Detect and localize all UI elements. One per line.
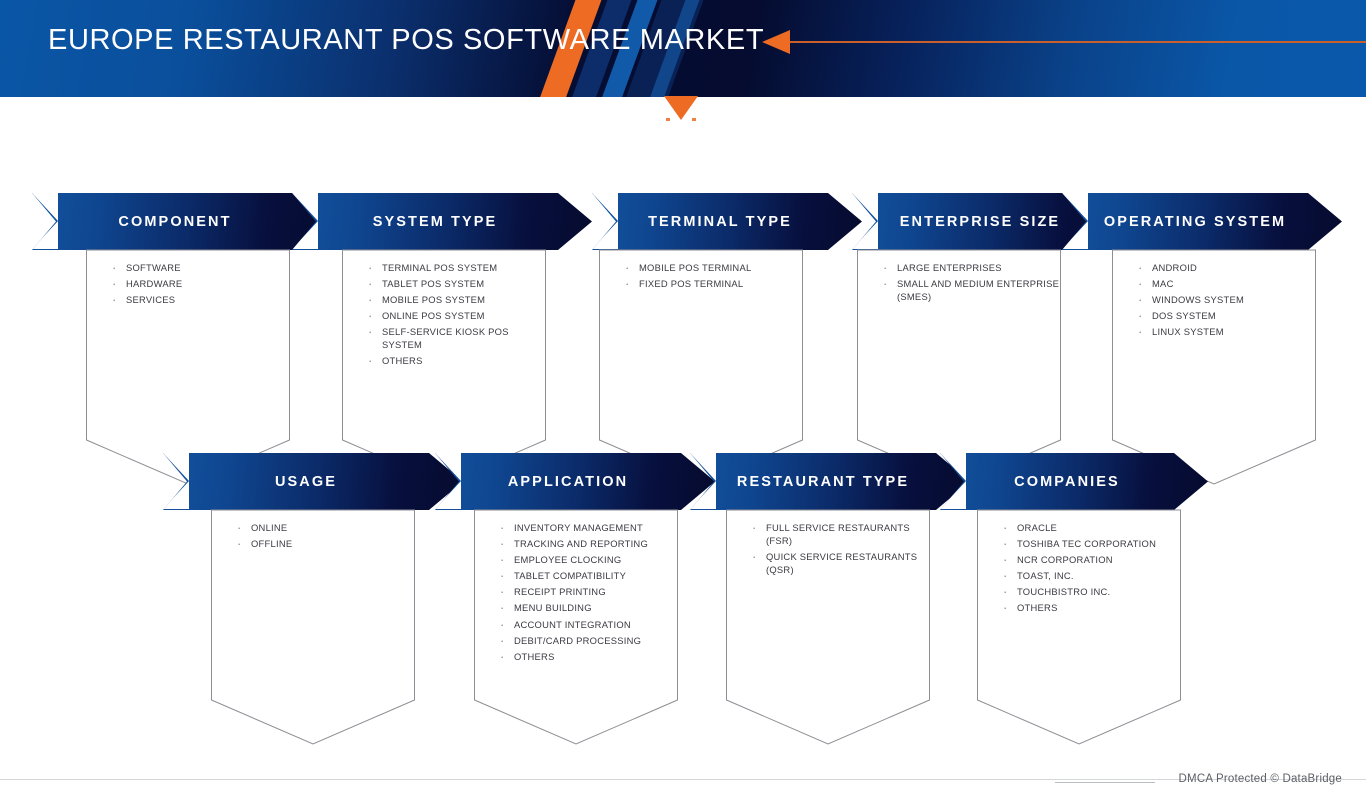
list-item: ·WINDOWS SYSTEM <box>1112 293 1316 306</box>
orange-dot-right <box>692 118 696 121</box>
list-item: ·TERMINAL POS SYSTEM <box>342 261 546 274</box>
segment-card-body: ·ONLINE·OFFLINE <box>211 510 415 744</box>
bullet-dot-icon: · <box>625 261 639 274</box>
list-item-label: WINDOWS SYSTEM <box>1152 293 1244 306</box>
list-item-label: ONLINE <box>251 521 287 534</box>
list-item-label: OTHERS <box>382 354 423 367</box>
list-item: ·SOFTWARE <box>86 261 290 274</box>
bullet-dot-icon: · <box>237 521 251 534</box>
bullet-dot-icon: · <box>368 261 382 274</box>
segment-item-list: ·FULL SERVICE RESTAURANTS (FSR)·QUICK SE… <box>726 521 930 579</box>
page-header: EUROPE RESTAURANT POS SOFTWARE MARKET <box>0 0 1366 97</box>
segment-item-list: ·ONLINE·OFFLINE <box>211 521 415 553</box>
bullet-dot-icon: · <box>752 521 766 534</box>
list-item-label: OTHERS <box>1017 601 1058 614</box>
segment-card-title: TERMINAL TYPE <box>648 214 792 230</box>
list-item: ·QUICK SERVICE RESTAURANTS (QSR) <box>726 550 930 576</box>
list-item-label: MOBILE POS TERMINAL <box>639 261 751 274</box>
list-item: ·SERVICES <box>86 293 290 306</box>
list-item-label: DEBIT/CARD PROCESSING <box>514 634 641 647</box>
list-item-label: HARDWARE <box>126 277 182 290</box>
bullet-dot-icon: · <box>368 325 382 338</box>
list-item-label: LARGE ENTERPRISES <box>897 261 1002 274</box>
list-item-label: NCR CORPORATION <box>1017 553 1113 566</box>
list-item-label: SERVICES <box>126 293 175 306</box>
list-item-label: TOAST, INC. <box>1017 569 1074 582</box>
segment-item-list: ·ORACLE·TOSHIBA TEC CORPORATION·NCR CORP… <box>977 521 1181 618</box>
list-item-label: TOSHIBA TEC CORPORATION <box>1017 537 1156 550</box>
list-item-label: SMALL AND MEDIUM ENTERPRISE (SMES) <box>897 277 1059 303</box>
list-item-label: EMPLOYEE CLOCKING <box>514 553 621 566</box>
segment-card-body: ·TERMINAL POS SYSTEM·TABLET POS SYSTEM·M… <box>342 250 546 484</box>
list-item: ·SMALL AND MEDIUM ENTERPRISE (SMES) <box>857 277 1061 303</box>
segment-card-body: ·SOFTWARE·HARDWARE·SERVICES <box>86 250 290 484</box>
bullet-dot-icon: · <box>1138 293 1152 306</box>
list-item-label: LINUX SYSTEM <box>1152 325 1224 338</box>
bullet-dot-icon: · <box>625 277 639 290</box>
orange-arrow-tip-icon <box>664 96 698 120</box>
list-item: ·ORACLE <box>977 521 1181 534</box>
bullet-dot-icon: · <box>1138 261 1152 274</box>
bullet-dot-icon: · <box>237 537 251 550</box>
bullet-dot-icon: · <box>1138 309 1152 322</box>
bullet-dot-icon: · <box>1138 277 1152 290</box>
bullet-dot-icon: · <box>883 277 897 290</box>
segment-card-body: ·ORACLE·TOSHIBA TEC CORPORATION·NCR CORP… <box>977 510 1181 744</box>
bullet-dot-icon: · <box>500 601 514 614</box>
list-item-label: ANDROID <box>1152 261 1197 274</box>
list-item: ·DEBIT/CARD PROCESSING <box>474 634 678 647</box>
segment-card-title: COMPONENT <box>118 214 231 230</box>
segment-card-banner[interactable]: TERMINAL TYPE <box>592 193 862 250</box>
page-title: EUROPE RESTAURANT POS SOFTWARE MARKET <box>48 24 764 57</box>
list-item: ·TOUCHBISTRO INC. <box>977 585 1181 598</box>
list-item-label: FIXED POS TERMINAL <box>639 277 743 290</box>
list-item: ·OTHERS <box>977 601 1181 614</box>
segment-card-banner[interactable]: RESTAURANT TYPE <box>690 453 970 510</box>
list-item: ·ACCOUNT INTEGRATION <box>474 618 678 631</box>
list-item-label: SELF-SERVICE KIOSK POS SYSTEM <box>382 325 546 351</box>
segment-card-title: OPERATING SYSTEM <box>1104 214 1286 230</box>
segment-item-list: ·LARGE ENTERPRISES·SMALL AND MEDIUM ENTE… <box>857 261 1061 306</box>
footer-divider <box>0 779 1366 780</box>
list-item: ·OTHERS <box>342 354 546 367</box>
list-item: ·TABLET POS SYSTEM <box>342 277 546 290</box>
bullet-dot-icon: · <box>1003 537 1017 550</box>
bullet-dot-icon: · <box>1003 521 1017 534</box>
segment-item-list: ·TERMINAL POS SYSTEM·TABLET POS SYSTEM·M… <box>342 261 546 371</box>
list-item: ·ONLINE POS SYSTEM <box>342 309 546 322</box>
bullet-dot-icon: · <box>368 309 382 322</box>
list-item-label: RECEIPT PRINTING <box>514 585 606 598</box>
list-item: ·DOS SYSTEM <box>1112 309 1316 322</box>
list-item-label: TERMINAL POS SYSTEM <box>382 261 497 274</box>
list-item: ·LARGE ENTERPRISES <box>857 261 1061 274</box>
segment-item-list: ·INVENTORY MANAGEMENT·TRACKING AND REPOR… <box>474 521 678 666</box>
bullet-dot-icon: · <box>112 293 126 306</box>
segment-card-body: ·LARGE ENTERPRISES·SMALL AND MEDIUM ENTE… <box>857 250 1061 484</box>
list-item-label: OFFLINE <box>251 537 292 550</box>
segment-card-banner[interactable]: APPLICATION <box>435 453 715 510</box>
list-item-label: SOFTWARE <box>126 261 181 274</box>
bullet-dot-icon: · <box>1138 325 1152 338</box>
list-item: ·SELF-SERVICE KIOSK POS SYSTEM <box>342 325 546 351</box>
segment-card-body: ·FULL SERVICE RESTAURANTS (FSR)·QUICK SE… <box>726 510 930 744</box>
bullet-dot-icon: · <box>883 261 897 274</box>
list-item-label: ONLINE POS SYSTEM <box>382 309 485 322</box>
list-item-label: MAC <box>1152 277 1174 290</box>
list-item-label: ORACLE <box>1017 521 1057 534</box>
list-item-label: TOUCHBISTRO INC. <box>1017 585 1110 598</box>
list-item: ·FULL SERVICE RESTAURANTS (FSR) <box>726 521 930 547</box>
bullet-dot-icon: · <box>1003 553 1017 566</box>
list-item: ·TRACKING AND REPORTING <box>474 537 678 550</box>
list-item-label: MOBILE POS SYSTEM <box>382 293 485 306</box>
segment-card-banner[interactable]: SYSTEM TYPE <box>292 193 592 250</box>
bullet-dot-icon: · <box>752 550 766 563</box>
chevron-notch-icon <box>32 193 58 249</box>
bullet-dot-icon: · <box>500 585 514 598</box>
bullet-dot-icon: · <box>500 553 514 566</box>
list-item: ·OTHERS <box>474 650 678 663</box>
header-accent-line <box>790 41 1366 43</box>
list-item: ·MENU BUILDING <box>474 601 678 614</box>
list-item-label: TABLET POS SYSTEM <box>382 277 484 290</box>
list-item: ·ONLINE <box>211 521 415 534</box>
chevron-notch-icon <box>592 193 618 249</box>
bullet-dot-icon: · <box>500 521 514 534</box>
orange-dot-left <box>666 118 670 121</box>
segment-card-banner[interactable]: COMPONENT <box>32 193 332 250</box>
segment-item-list: ·SOFTWARE·HARDWARE·SERVICES <box>86 261 290 309</box>
list-item: ·LINUX SYSTEM <box>1112 325 1316 338</box>
bullet-dot-icon: · <box>500 537 514 550</box>
segment-card-title: APPLICATION <box>508 474 628 490</box>
segment-card-banner[interactable]: COMPANIES <box>940 453 1208 510</box>
segment-card-title: SYSTEM TYPE <box>373 214 498 230</box>
list-item: ·MOBILE POS SYSTEM <box>342 293 546 306</box>
list-item: ·EMPLOYEE CLOCKING <box>474 553 678 566</box>
footer-accent-line <box>1055 782 1155 783</box>
segment-item-list: ·ANDROID·MAC·WINDOWS SYSTEM·DOS SYSTEM·L… <box>1112 261 1316 341</box>
bullet-dot-icon: · <box>500 618 514 631</box>
segment-item-list: ·MOBILE POS TERMINAL·FIXED POS TERMINAL <box>599 261 803 293</box>
left-arrow-icon <box>762 30 790 54</box>
list-item: ·HARDWARE <box>86 277 290 290</box>
bullet-dot-icon: · <box>112 261 126 274</box>
list-item-label: FULL SERVICE RESTAURANTS (FSR) <box>766 521 930 547</box>
bullet-dot-icon: · <box>1003 601 1017 614</box>
list-item: ·TABLET COMPATIBILITY <box>474 569 678 582</box>
list-item: ·TOAST, INC. <box>977 569 1181 582</box>
segment-card-body: ·INVENTORY MANAGEMENT·TRACKING AND REPOR… <box>474 510 678 744</box>
list-item-label: OTHERS <box>514 650 555 663</box>
bullet-dot-icon: · <box>500 634 514 647</box>
segment-card-title: RESTAURANT TYPE <box>737 474 909 490</box>
list-item-label: INVENTORY MANAGEMENT <box>514 521 643 534</box>
segment-card-body: ·ANDROID·MAC·WINDOWS SYSTEM·DOS SYSTEM·L… <box>1112 250 1316 484</box>
segment-card-body: ·MOBILE POS TERMINAL·FIXED POS TERMINAL <box>599 250 803 484</box>
bullet-dot-icon: · <box>368 354 382 367</box>
segment-card-title: COMPANIES <box>1014 474 1120 490</box>
bullet-dot-icon: · <box>112 277 126 290</box>
bullet-dot-icon: · <box>1003 585 1017 598</box>
bullet-dot-icon: · <box>368 293 382 306</box>
list-item-label: DOS SYSTEM <box>1152 309 1216 322</box>
list-item: ·MOBILE POS TERMINAL <box>599 261 803 274</box>
bullet-dot-icon: · <box>368 277 382 290</box>
list-item-label: ACCOUNT INTEGRATION <box>514 618 631 631</box>
segment-card-title: USAGE <box>275 474 337 490</box>
list-item: ·ANDROID <box>1112 261 1316 274</box>
bullet-dot-icon: · <box>1003 569 1017 582</box>
list-item: ·TOSHIBA TEC CORPORATION <box>977 537 1181 550</box>
list-item: ·RECEIPT PRINTING <box>474 585 678 598</box>
list-item: ·FIXED POS TERMINAL <box>599 277 803 290</box>
segment-card-banner[interactable]: OPERATING SYSTEM <box>1062 193 1342 250</box>
list-item-label: QUICK SERVICE RESTAURANTS (QSR) <box>766 550 930 576</box>
segment-card-banner[interactable]: USAGE <box>163 453 463 510</box>
footer-copyright: DMCA Protected © DataBridge <box>1179 773 1342 785</box>
list-item: ·MAC <box>1112 277 1316 290</box>
bullet-dot-icon: · <box>500 650 514 663</box>
list-item-label: MENU BUILDING <box>514 601 592 614</box>
segment-card-title: ENTERPRISE SIZE <box>900 214 1060 230</box>
list-item-label: TRACKING AND REPORTING <box>514 537 648 550</box>
list-item: ·INVENTORY MANAGEMENT <box>474 521 678 534</box>
list-item: ·OFFLINE <box>211 537 415 550</box>
list-item-label: TABLET COMPATIBILITY <box>514 569 626 582</box>
list-item: ·NCR CORPORATION <box>977 553 1181 566</box>
bullet-dot-icon: · <box>500 569 514 582</box>
